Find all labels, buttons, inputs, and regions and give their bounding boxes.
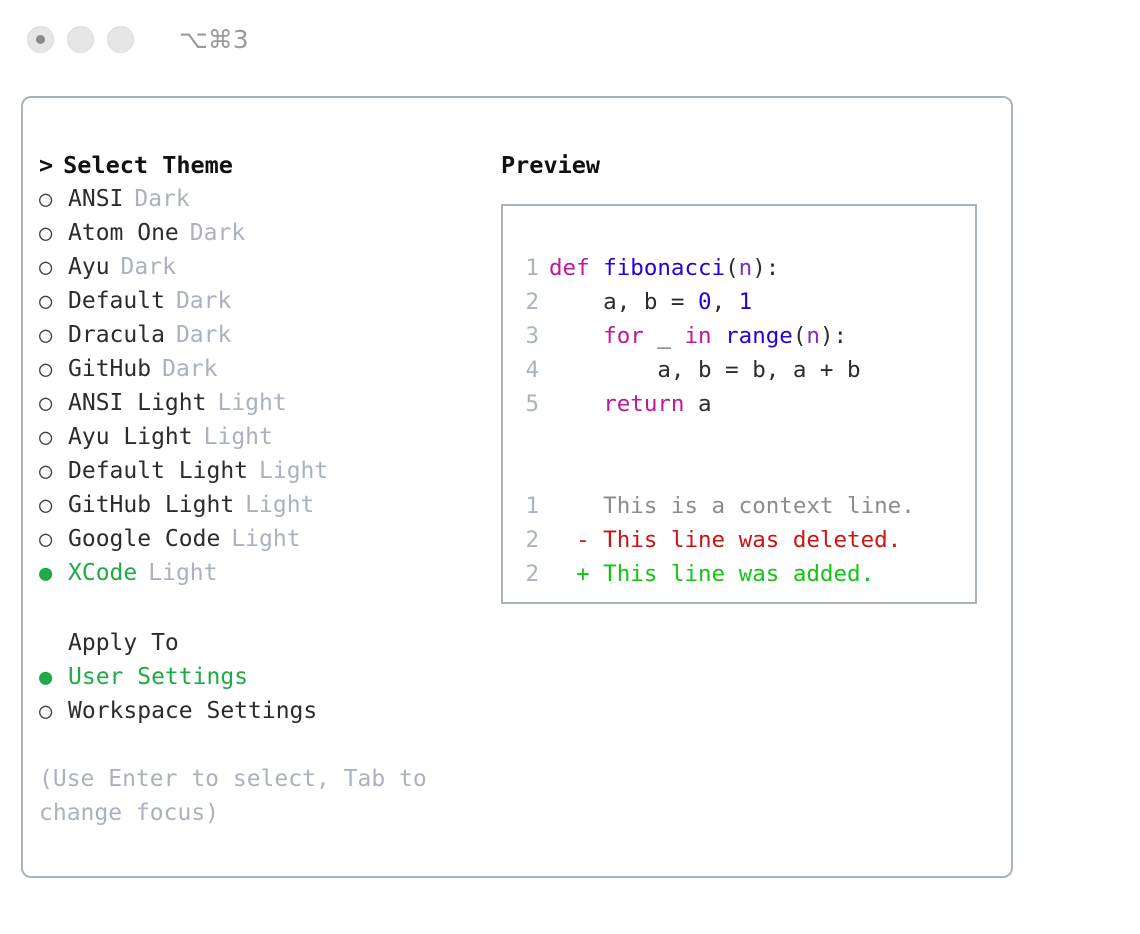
apply-to-heading: Apply To [39, 626, 479, 660]
diff-line: 2 + This line was added. [503, 557, 975, 591]
theme-list-item[interactable]: ○Atom OneDark [39, 216, 479, 250]
code-token-punc [549, 391, 603, 417]
diff-marker [549, 489, 590, 523]
code-token-param: n [806, 323, 820, 349]
code-token-punc: , [712, 289, 739, 315]
code-token-num: 0 [698, 289, 712, 315]
theme-name: Atom One [68, 216, 179, 250]
diff-line: 1 This is a context line. [503, 489, 975, 523]
theme-name: ANSI [68, 182, 123, 216]
theme-list-item[interactable]: ○Default LightLight [39, 454, 479, 488]
code-line: 3 for _ in range(n): [503, 319, 975, 353]
theme-selector-column: > Select Theme ○ANSIDark○Atom OneDark○Ay… [39, 148, 479, 830]
diff-preview: 1 This is a context line.2 - This line w… [503, 489, 975, 591]
preview-box: 1def fibonacci(n):2 a, b = 0, 13 for _ i… [501, 204, 977, 604]
theme-name: Default Light [68, 454, 248, 488]
code-token-punc: _ [644, 323, 685, 349]
theme-variant: Dark [121, 250, 176, 284]
radio-unselected-icon[interactable]: ○ [39, 251, 68, 285]
diff-line-number: 2 [503, 557, 549, 591]
code-token-kw: in [684, 323, 711, 349]
radio-unselected-icon[interactable]: ○ [39, 695, 68, 729]
code-line: 1def fibonacci(n): [503, 251, 975, 285]
diff-line-text: This is a context line. [590, 489, 915, 523]
code-token-punc [549, 323, 603, 349]
diff-line-number: 1 [503, 489, 549, 523]
radio-unselected-icon[interactable]: ○ [39, 353, 68, 387]
theme-variant: Light [245, 488, 314, 522]
apply-to-item[interactable]: ○Workspace Settings [39, 694, 479, 728]
apply-to-label: Workspace Settings [68, 694, 317, 728]
titlebar-dot-2[interactable] [67, 26, 94, 53]
radio-unselected-icon[interactable]: ○ [39, 421, 68, 455]
app-window: ⌥⌘3 > Select Theme ○ANSIDark○Atom OneDar… [0, 0, 1140, 934]
theme-variant: Light [204, 420, 273, 454]
theme-variant: Light [217, 386, 286, 420]
radio-unselected-icon[interactable]: ○ [39, 387, 68, 421]
apply-to-item[interactable]: ●User Settings [39, 660, 479, 694]
code-line-text: for _ in range(n): [549, 319, 847, 353]
radio-unselected-icon[interactable]: ○ [39, 285, 68, 319]
theme-variant: Light [231, 522, 300, 556]
code-line-text: def fibonacci(n): [549, 251, 779, 285]
radio-selected-icon[interactable]: ● [39, 557, 68, 591]
theme-name: Google Code [68, 522, 220, 556]
preview-heading: Preview [501, 148, 991, 182]
theme-list-item[interactable]: ○DefaultDark [39, 284, 479, 318]
theme-name: ANSI Light [68, 386, 206, 420]
theme-name: GitHub [68, 352, 151, 386]
code-token-kw: return [603, 391, 684, 417]
diff-line-text: This line was deleted. [590, 523, 902, 557]
code-diff-spacer [503, 421, 975, 455]
radio-selected-icon[interactable]: ● [39, 661, 68, 695]
keyboard-hint-text: (Use Enter to select, Tab to change focu… [39, 762, 459, 830]
recording-indicator-dot[interactable] [27, 26, 54, 53]
focus-caret-icon: > [39, 148, 53, 182]
theme-list-item[interactable]: ○DraculaDark [39, 318, 479, 352]
theme-variant: Dark [176, 318, 231, 352]
line-number: 5 [503, 387, 549, 421]
theme-variant: Dark [134, 182, 189, 216]
code-line-text: a, b = 0, 1 [549, 285, 752, 319]
diff-line-number: 2 [503, 523, 549, 557]
code-token-punc: ): [820, 323, 847, 349]
radio-unselected-icon[interactable]: ○ [39, 455, 68, 489]
theme-variant: Light [259, 454, 328, 488]
apply-to-list: ●User Settings○Workspace Settings [39, 660, 479, 728]
radio-unselected-icon[interactable]: ○ [39, 217, 68, 251]
code-token-punc: a, b = [549, 289, 698, 315]
theme-list-item[interactable]: ○ANSIDark [39, 182, 479, 216]
select-theme-heading: > Select Theme [39, 148, 479, 182]
apply-to-label: User Settings [68, 660, 248, 694]
code-token-kw: for [603, 323, 644, 349]
code-token-fn: fibonacci [603, 255, 725, 281]
theme-list-item[interactable]: ○ANSI LightLight [39, 386, 479, 420]
theme-list: ○ANSIDark○Atom OneDark○AyuDark○DefaultDa… [39, 182, 479, 590]
section-spacer [39, 590, 479, 626]
theme-list-item[interactable]: ○Ayu LightLight [39, 420, 479, 454]
theme-name: XCode [68, 556, 137, 590]
line-number: 1 [503, 251, 549, 285]
preview-column: Preview 1def fibonacci(n):2 a, b = 0, 13… [501, 148, 991, 604]
code-token-punc [712, 323, 726, 349]
theme-variant: Dark [162, 352, 217, 386]
code-token-punc: ( [793, 323, 807, 349]
code-line: 2 a, b = 0, 1 [503, 285, 975, 319]
diff-marker: + [549, 557, 590, 591]
code-token-param: n [739, 255, 753, 281]
select-theme-label: Select Theme [63, 148, 233, 182]
code-diff-spacer-2 [503, 455, 975, 489]
diff-line-text: This line was added. [590, 557, 874, 591]
theme-list-item[interactable]: ○Google CodeLight [39, 522, 479, 556]
line-number: 4 [503, 353, 549, 387]
keyboard-shortcut-label: ⌥⌘3 [179, 27, 249, 52]
theme-name: Ayu Light [68, 420, 193, 454]
code-token-fn: range [725, 323, 793, 349]
code-token-punc: ): [752, 255, 779, 281]
theme-variant: Light [148, 556, 217, 590]
code-preview: 1def fibonacci(n):2 a, b = 0, 13 for _ i… [503, 251, 975, 421]
main-panel: > Select Theme ○ANSIDark○Atom OneDark○Ay… [21, 96, 1013, 878]
code-line-text: return a [549, 387, 712, 421]
theme-name: Default [68, 284, 165, 318]
theme-list-item[interactable]: ○AyuDark [39, 250, 479, 284]
recording-dot-inner [36, 35, 45, 44]
code-line-text: a, b = b, a + b [549, 353, 861, 387]
code-token-num: 1 [739, 289, 753, 315]
code-token-punc: ( [725, 255, 739, 281]
code-token-punc: a, b = b, a + b [549, 357, 861, 383]
code-token-punc: a [684, 391, 711, 417]
theme-list-item[interactable]: ●XCodeLight [39, 556, 479, 590]
titlebar-dot-3[interactable] [107, 26, 134, 53]
theme-variant: Dark [176, 284, 231, 318]
code-token-kw: def [549, 255, 590, 281]
code-line: 5 return a [503, 387, 975, 421]
radio-unselected-icon[interactable]: ○ [39, 183, 68, 217]
theme-list-item[interactable]: ○GitHubDark [39, 352, 479, 386]
code-token-punc [590, 255, 604, 281]
diff-marker: - [549, 523, 590, 557]
radio-unselected-icon[interactable]: ○ [39, 319, 68, 353]
radio-unselected-icon[interactable]: ○ [39, 523, 68, 557]
theme-variant: Dark [190, 216, 245, 250]
radio-unselected-icon[interactable]: ○ [39, 489, 68, 523]
theme-name: GitHub Light [68, 488, 234, 522]
theme-name: Dracula [68, 318, 165, 352]
theme-name: Ayu [68, 250, 110, 284]
diff-line: 2 - This line was deleted. [503, 523, 975, 557]
code-line: 4 a, b = b, a + b [503, 353, 975, 387]
theme-list-item[interactable]: ○GitHub LightLight [39, 488, 479, 522]
window-titlebar: ⌥⌘3 [0, 0, 1140, 78]
line-number: 2 [503, 285, 549, 319]
line-number: 3 [503, 319, 549, 353]
